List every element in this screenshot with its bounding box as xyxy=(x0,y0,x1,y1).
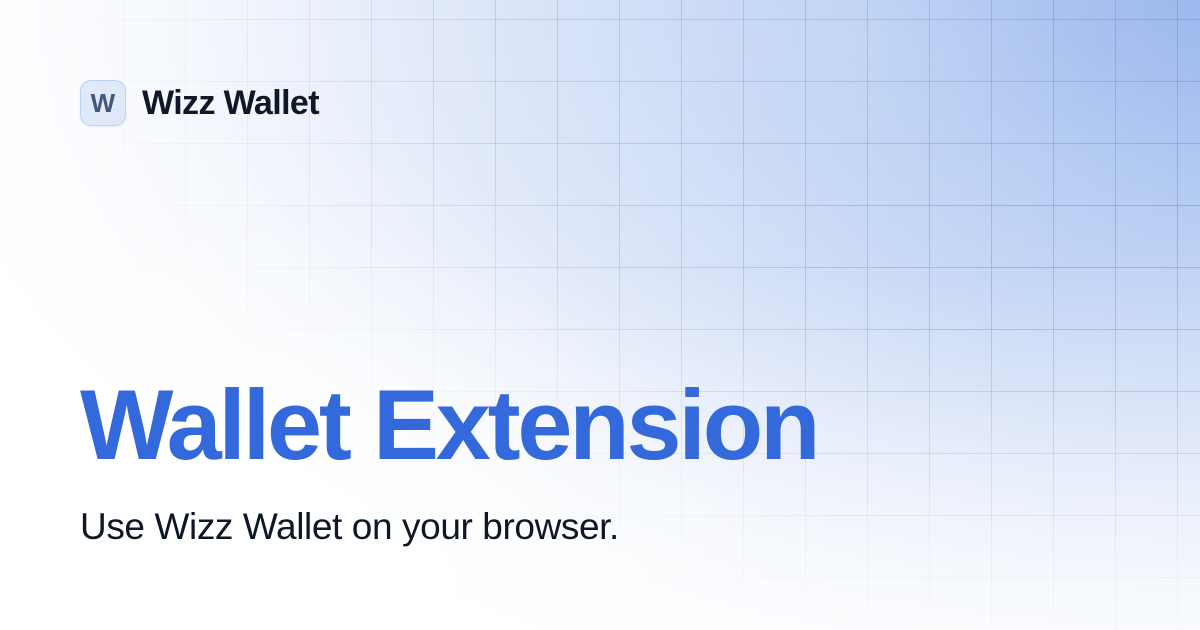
wizz-wallet-logo-icon: W xyxy=(80,80,126,126)
social-preview-card: W Wizz Wallet Wallet Extension Use Wizz … xyxy=(0,0,1200,630)
brand-name: Wizz Wallet xyxy=(142,86,319,120)
card-content: W Wizz Wallet Wallet Extension Use Wizz … xyxy=(0,0,1200,630)
logo-letter: W xyxy=(91,90,116,116)
page-title: Wallet Extension xyxy=(80,375,817,474)
page-subtitle: Use Wizz Wallet on your browser. xyxy=(80,508,619,545)
brand-lockup: W Wizz Wallet xyxy=(80,80,319,126)
